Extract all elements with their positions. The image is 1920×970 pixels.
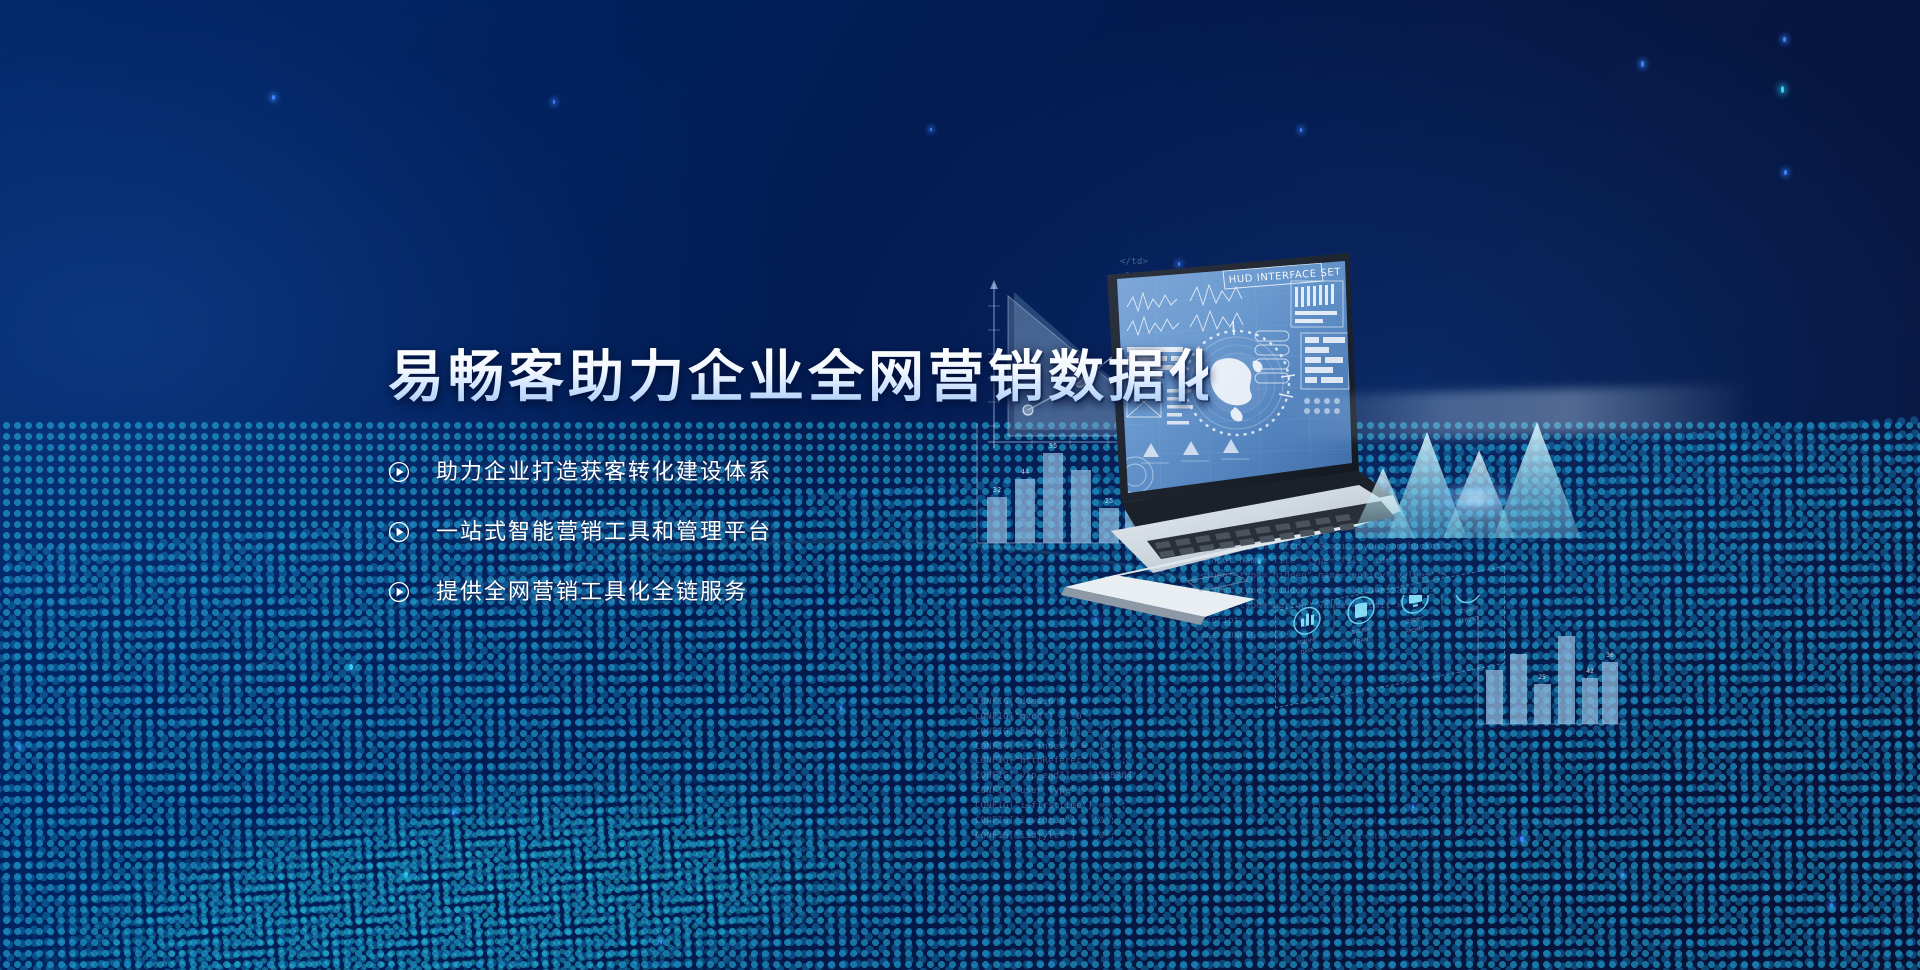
feature-list: 助力企业打造获客转化建设体系 一站式智能营销工具和管理平台 提供全网营销工具化全…	[388, 451, 1208, 613]
svg-text:36: 36	[1606, 651, 1614, 659]
svg-text:智能表单: 智能表单	[1351, 625, 1371, 636]
light-streak	[173, 704, 687, 788]
list-item[interactable]: 提供全网营销工具化全链服务	[388, 571, 1208, 613]
svg-text:25: 25	[1538, 673, 1546, 681]
list-item[interactable]: 一站式智能营销工具和管理平台	[388, 511, 1208, 553]
mountain-peaks-chart	[1355, 410, 1595, 555]
list-item[interactable]: 助力企业打造获客转化建设体系	[388, 451, 1208, 493]
svg-text:FORM: FORM	[1354, 637, 1369, 646]
play-circle-icon	[388, 521, 410, 543]
list-item-label: 提供全网营销工具化全链服务	[436, 581, 748, 603]
light-streak	[0, 631, 595, 753]
svg-text:数据分析: 数据分析	[1297, 636, 1317, 647]
code-overlay-text: </li> <a rel="nofollow" pic="link-type" …	[1300, 800, 1587, 859]
list-item-label: 一站式智能营销工具和管理平台	[436, 521, 772, 543]
svg-text:DATA: DATA	[1301, 647, 1314, 656]
hero-banner: </td> <li mode="997"> <li class="checked…	[0, 0, 1920, 970]
page-title: 易畅客助力企业全网营销数据化	[388, 348, 1208, 407]
list-item-label: 助力企业打造获客转化建设体系	[436, 461, 772, 483]
hero-copy: 易畅客助力企业全网营销数据化 助力企业打造获客转化建设体系 一站式智能营销工具和…	[388, 348, 1208, 631]
feature-icon-row: 数据分析 智能表单 全网推广 企业服务 DATA FORM PROMO SERV…	[1285, 595, 1500, 685]
svg-text:42: 42	[1586, 667, 1594, 675]
code-overlay-text: CONFIG["domain"] = ''; CONFIG["qvod"] = …	[975, 695, 1144, 843]
svg-text:企业服务: 企业服务	[1459, 604, 1479, 615]
svg-text:PROMO: PROMO	[1406, 626, 1425, 636]
svg-text:SERVICE: SERVICE	[1458, 615, 1479, 625]
play-circle-icon	[388, 461, 410, 483]
svg-text:全网推广: 全网推广	[1405, 615, 1425, 626]
tech-illustration: </td> <li mode="997"> <li class="checked…	[1130, 240, 1750, 720]
play-circle-icon	[388, 581, 410, 603]
